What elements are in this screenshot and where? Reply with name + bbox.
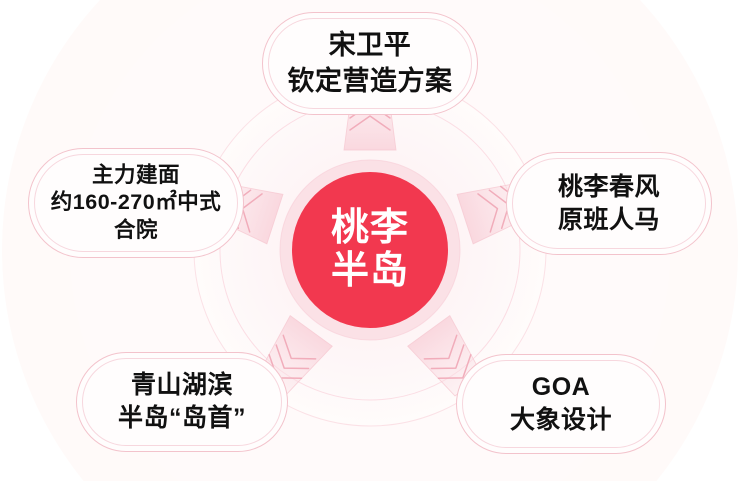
node-pill-lower-right-label: GOA 大象设计 <box>502 371 620 437</box>
node-pill-upper-left[interactable]: 主力建面 约160-270㎡中式 合院 <box>28 148 244 258</box>
node-pill-lower-left-label: 青山湖滨 半岛“岛首” <box>110 369 254 435</box>
center-hub-label: 桃李 半岛 <box>331 207 409 292</box>
diagram-canvas: 桃李 半岛 宋卫平 钦定营造方案 主力建面 约160-270㎡中式 合院 桃李春… <box>0 0 740 481</box>
node-pill-upper-right-label: 桃李春风 原班人马 <box>550 171 668 237</box>
node-pill-top-label: 宋卫平 钦定营造方案 <box>280 28 461 99</box>
node-pill-upper-right[interactable]: 桃李春风 原班人马 <box>506 152 712 255</box>
node-pill-top[interactable]: 宋卫平 钦定营造方案 <box>262 12 478 115</box>
node-pill-lower-right[interactable]: GOA 大象设计 <box>456 354 666 454</box>
node-pill-upper-left-label: 主力建面 约160-270㎡中式 合院 <box>43 162 229 245</box>
center-hub[interactable]: 桃李 半岛 <box>292 172 448 328</box>
node-pill-lower-left[interactable]: 青山湖滨 半岛“岛首” <box>76 352 288 452</box>
